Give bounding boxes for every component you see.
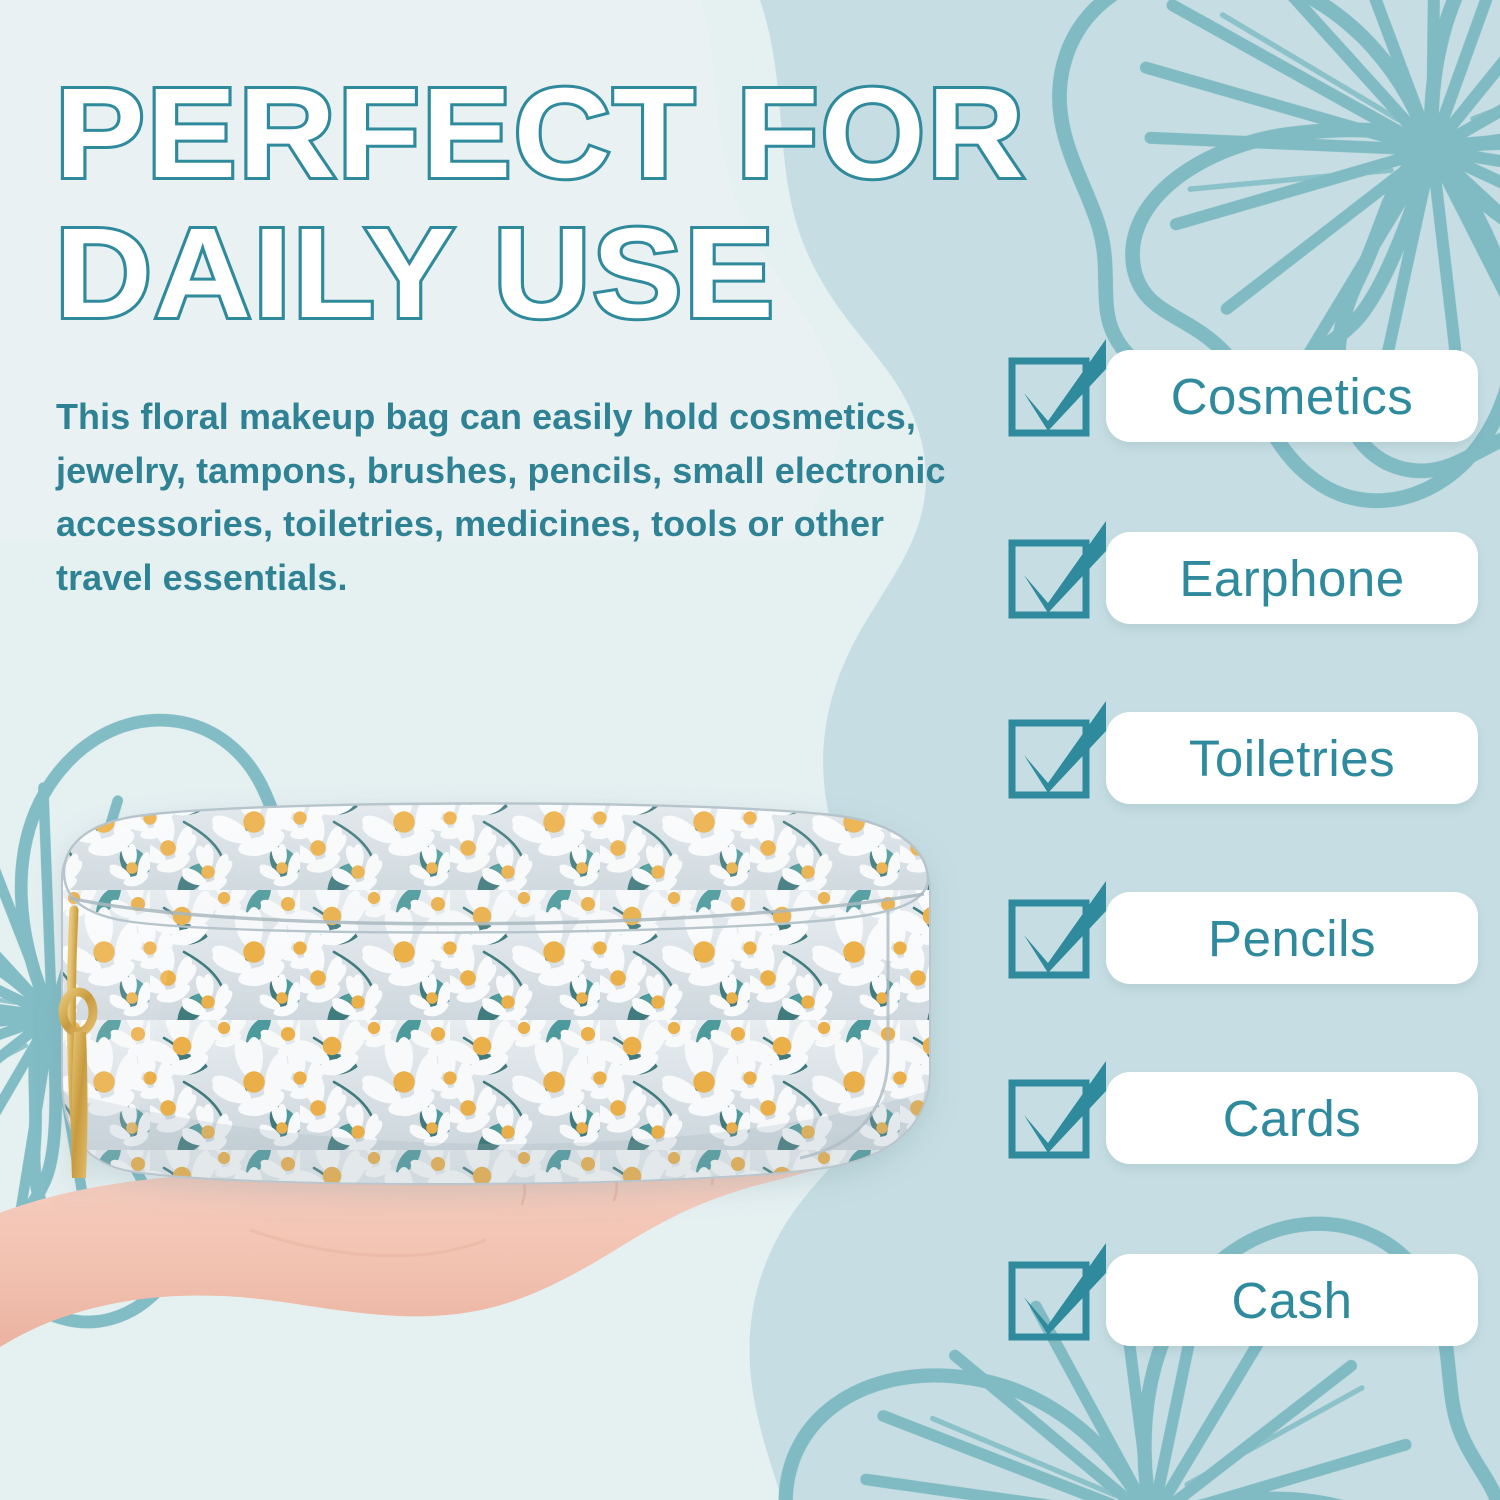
- checkbox-checked-icon[interactable]: [1008, 899, 1086, 977]
- checklist-label: Pencils: [1208, 913, 1376, 964]
- checklist-row[interactable]: Cards: [1008, 1070, 1478, 1166]
- checklist: Cosmetics Earphone Toiletr: [1008, 348, 1478, 1348]
- body-paragraph: This floral makeup bag can easily hold c…: [56, 390, 987, 605]
- makeup-bag: [40, 780, 980, 1210]
- checklist-row[interactable]: Pencils: [1008, 890, 1478, 986]
- checklist-row[interactable]: Toiletries: [1008, 710, 1478, 806]
- checklist-pill[interactable]: Cosmetics: [1106, 350, 1478, 442]
- checklist-row[interactable]: Cosmetics: [1008, 348, 1478, 444]
- checklist-row[interactable]: Earphone: [1008, 530, 1478, 626]
- checkbox-checked-icon[interactable]: [1008, 719, 1086, 797]
- checklist-pill[interactable]: Earphone: [1106, 532, 1478, 624]
- checkbox-checked-icon[interactable]: [1008, 1079, 1086, 1157]
- product-photo: [0, 760, 1010, 1500]
- marketing-banner: PERFECT FOR DAILY USE This floral makeup…: [0, 0, 1500, 1500]
- checkbox-checked-icon[interactable]: [1008, 1261, 1086, 1339]
- headline-line-1: PERFECT FOR: [55, 72, 1105, 196]
- checklist-label: Earphone: [1179, 553, 1404, 604]
- headline-line-2: DAILY USE: [55, 212, 1105, 336]
- checklist-label: Toiletries: [1189, 733, 1395, 784]
- checklist-pill[interactable]: Cash: [1106, 1254, 1478, 1346]
- checklist-label: Cash: [1231, 1275, 1352, 1326]
- checklist-row[interactable]: Cash: [1008, 1252, 1478, 1348]
- checklist-pill[interactable]: Pencils: [1106, 892, 1478, 984]
- checkbox-checked-icon[interactable]: [1008, 539, 1086, 617]
- headline: PERFECT FOR DAILY USE: [55, 72, 1055, 336]
- checklist-label: Cards: [1223, 1093, 1362, 1144]
- checkbox-checked-icon[interactable]: [1008, 357, 1086, 435]
- checklist-pill[interactable]: Toiletries: [1106, 712, 1478, 804]
- checklist-label: Cosmetics: [1171, 371, 1414, 422]
- checklist-pill[interactable]: Cards: [1106, 1072, 1478, 1164]
